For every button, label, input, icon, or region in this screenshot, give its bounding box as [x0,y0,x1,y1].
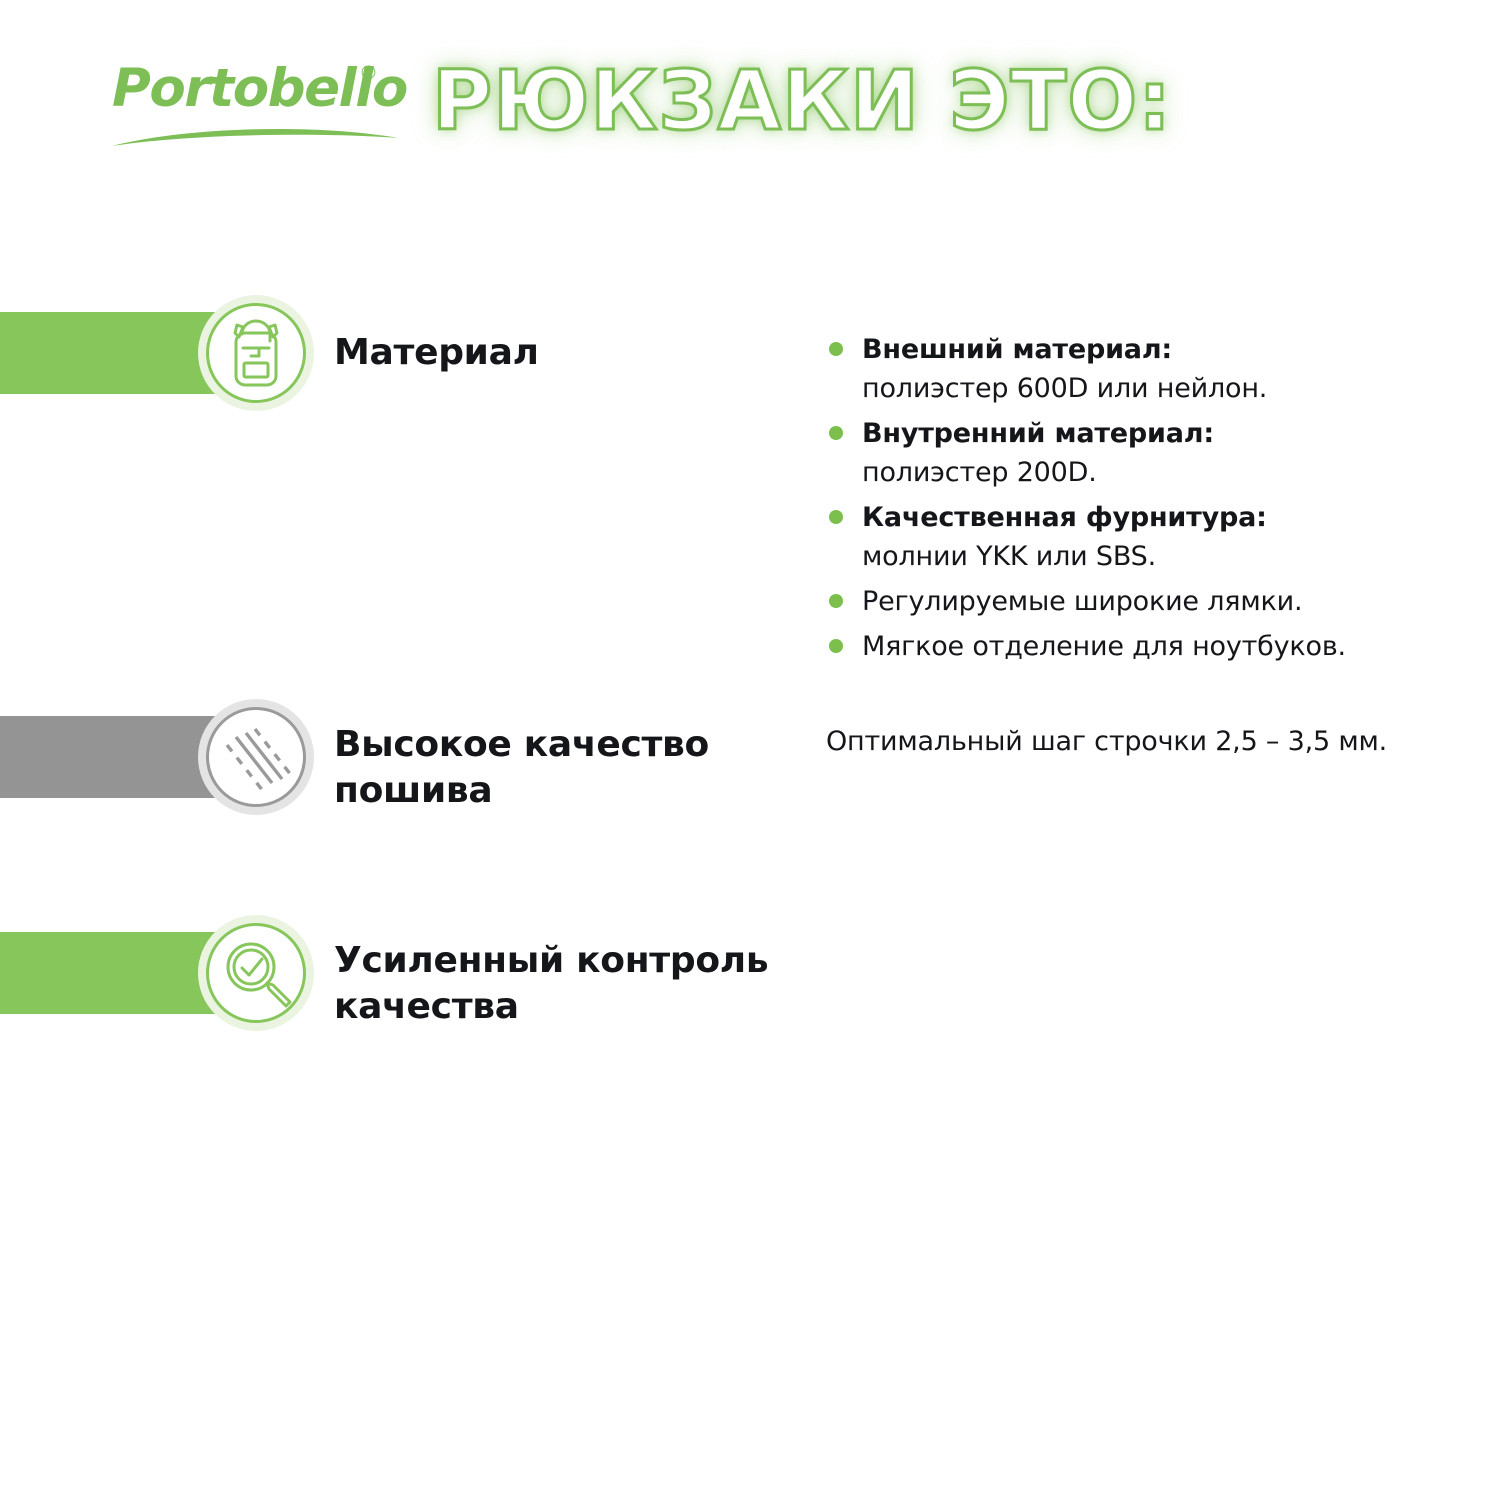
bullet-strong: Внешний материал: [862,330,1446,369]
bullet-dot-icon [829,342,843,356]
badge-stitch-quality [198,699,314,815]
list-item: Мягкое отделение для ноутбуков. [826,627,1446,666]
section-title-quality-control: Усиленный контроль качества [334,938,768,1030]
section-title-line: пошива [334,768,709,814]
bullet-dot-icon [829,510,843,524]
list-item: Внутренний материал: полиэстер 200D. [826,414,1446,492]
magnifier-check-icon [206,923,306,1023]
bullet-strong: Качественная фурнитура: [862,498,1446,537]
list-item: Качественная фурнитура: молнии YKK или S… [826,498,1446,576]
material-details: Внешний материал: полиэстер 600D или ней… [826,330,1446,672]
stitch-quality-details: Оптимальный шаг строчки 2,5 – 3,5 мм. [826,722,1446,761]
section-quality-control: Усиленный контроль качества [0,0,1500,260]
section-title-stitch-quality: Высокое качество пошива [334,722,709,814]
bullet-normal: полиэстер 600D или нейлон. [862,369,1446,408]
badge-quality-control [198,915,314,1031]
bullet-normal: Регулируемые широкие лямки. [862,582,1446,621]
list-item: Регулируемые широкие лямки. [826,582,1446,621]
badge-material [198,295,314,411]
section-title-line: Усиленный контроль [334,938,768,984]
section-title-line: Высокое качество [334,722,709,768]
bullet-strong: Внутренний материал: [862,414,1446,453]
bullet-dot-icon [829,639,843,653]
bullet-dot-icon [829,426,843,440]
stitch-note: Оптимальный шаг строчки 2,5 – 3,5 мм. [826,722,1446,761]
stitching-icon [206,707,306,807]
bullet-dot-icon [829,594,843,608]
material-bullet-list: Внешний материал: полиэстер 600D или ней… [826,330,1446,666]
bullet-normal: молнии YKK или SBS. [862,537,1446,576]
section-title-line: Материал [334,330,539,376]
section-title-material: Материал [334,330,539,376]
bullet-normal: полиэстер 200D. [862,453,1446,492]
backpack-icon [206,303,306,403]
list-item: Внешний материал: полиэстер 600D или ней… [826,330,1446,408]
infographic-page: Portobello ® РЮКЗАКИ ЭТО: [0,0,1500,1500]
bullet-normal: Мягкое отделение для ноутбуков. [862,627,1446,666]
section-title-line: качества [334,984,768,1030]
